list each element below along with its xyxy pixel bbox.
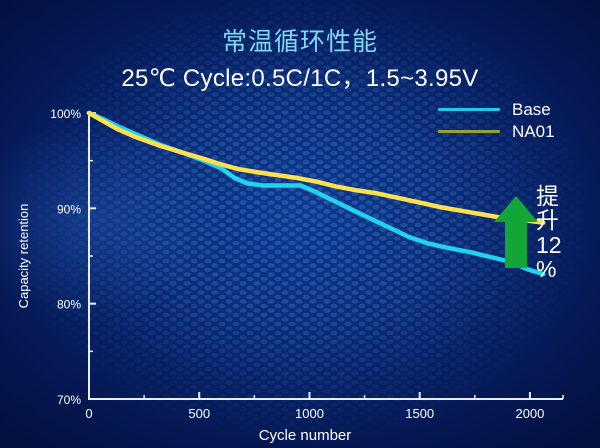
legend-swatch-base xyxy=(438,108,500,111)
svg-text:90%: 90% xyxy=(57,202,81,216)
svg-text:2000: 2000 xyxy=(515,406,544,421)
line-chart-svg: 70%80%90%100%0500100015002000 Capacity r… xyxy=(0,0,600,448)
x-axis-label: Cycle number xyxy=(259,427,352,444)
svg-text:80%: 80% xyxy=(57,298,81,312)
legend-item-base: Base xyxy=(438,98,555,120)
svg-text:500: 500 xyxy=(188,406,210,421)
legend-label-na01: NA01 xyxy=(512,123,555,140)
legend-item-na01: NA01 xyxy=(438,120,555,142)
svg-text:0: 0 xyxy=(85,406,92,421)
tick-labels-group: 70%80%90%100%0500100015002000 xyxy=(50,107,544,421)
svg-text:70%: 70% xyxy=(57,393,81,407)
svg-text:100%: 100% xyxy=(50,107,81,121)
chart-canvas: 常温循环性能 25℃ Cycle:0.5C/1C，1.5~3.95V 70%80… xyxy=(0,0,600,448)
chart-legend: Base NA01 xyxy=(438,98,555,142)
callout-line-4: % xyxy=(536,258,594,281)
callout-line-3: 12 xyxy=(536,234,594,257)
svg-text:1500: 1500 xyxy=(405,406,434,421)
svg-text:1000: 1000 xyxy=(295,406,324,421)
callout-line-2: 升 xyxy=(536,209,594,232)
callout-line-1: 提 xyxy=(536,185,594,208)
legend-label-base: Base xyxy=(512,101,551,118)
legend-swatch-na01 xyxy=(438,130,500,133)
improvement-callout: 提 升 12 % xyxy=(536,185,594,283)
y-axis-label: Capacity retention xyxy=(16,204,31,309)
